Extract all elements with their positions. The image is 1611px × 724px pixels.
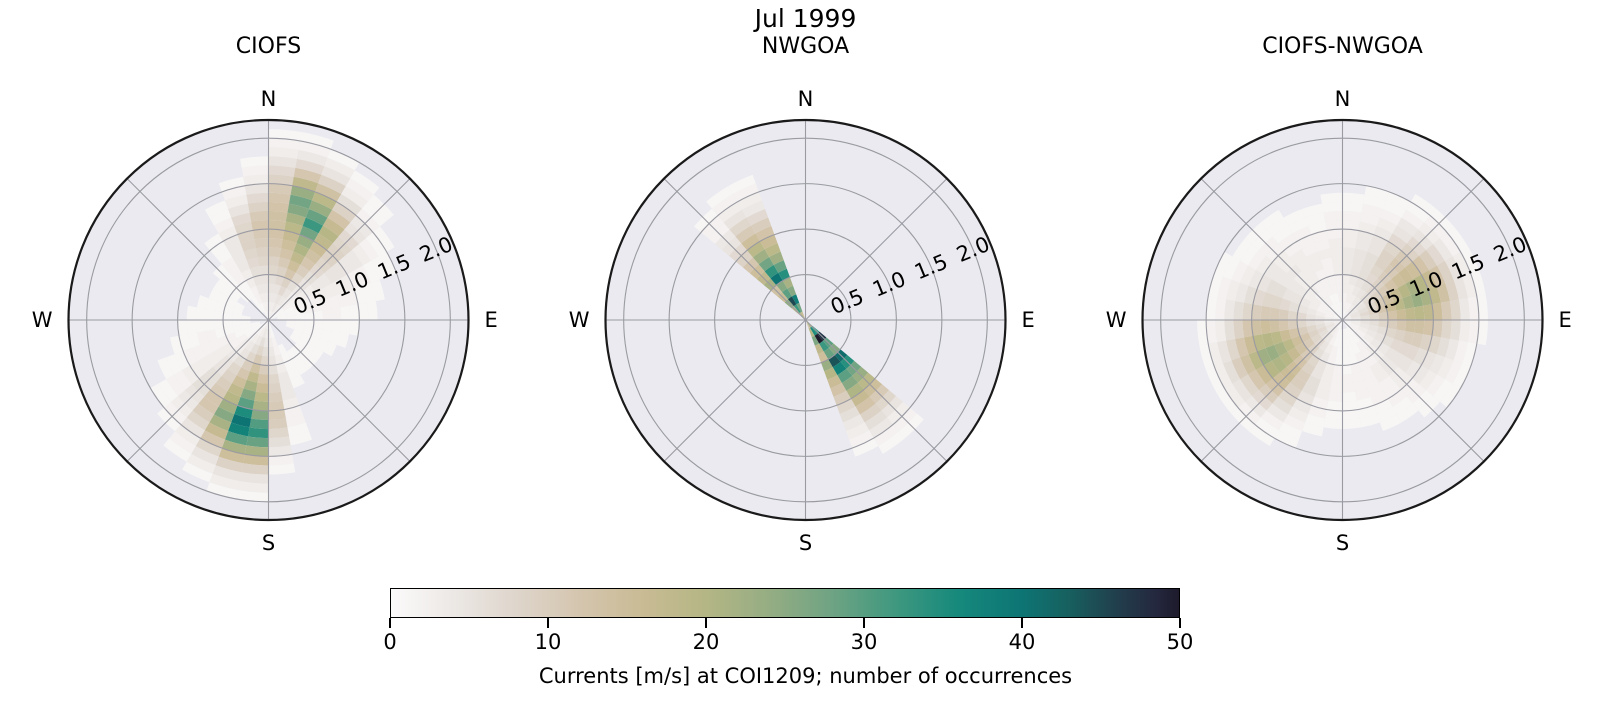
rose-cell	[1414, 320, 1424, 334]
colorbar-tick-mark	[1179, 618, 1180, 628]
rose-cell	[1343, 238, 1357, 248]
rose-cell	[250, 418, 269, 429]
rose-cell	[187, 306, 197, 320]
rose-cell	[269, 247, 282, 257]
colorbar-tick-mark	[863, 618, 864, 628]
rose-cell	[1324, 211, 1343, 222]
rose-cell	[1328, 392, 1342, 402]
polar-grid	[606, 120, 1006, 520]
panel-nwgoa: NWGOA 0.51.01.52.0NSEW	[537, 0, 1074, 600]
rose-cell	[1441, 320, 1452, 339]
rose-cell	[269, 374, 280, 384]
rose-cell	[1328, 238, 1342, 248]
rose-cell	[1270, 320, 1280, 333]
rose-cell	[256, 247, 269, 257]
compass-label-n: N	[1335, 87, 1351, 111]
rose-cell	[196, 320, 206, 333]
rose-cell	[1414, 306, 1424, 320]
rose-cell	[313, 320, 323, 329]
rose-cell	[1343, 418, 1362, 429]
rose-cell	[1261, 306, 1271, 320]
compass-label-w: W	[1106, 308, 1127, 332]
panel-ciofs: CIOFS 0.51.01.52.0NSEW	[0, 0, 537, 600]
rose-cell	[1333, 265, 1342, 275]
polar-grid	[69, 120, 469, 520]
compass-label-w: W	[32, 308, 53, 332]
rose-cell	[269, 383, 282, 393]
compass-label-w: W	[569, 308, 590, 332]
rose-cell	[322, 320, 332, 331]
rose-cell	[1405, 320, 1415, 333]
rose-cell	[322, 309, 332, 320]
rose-cell	[1233, 301, 1244, 320]
rose-cell	[269, 418, 288, 429]
rose-cell	[1441, 301, 1452, 320]
rose-cell	[1405, 307, 1415, 320]
colorbar-tick-mark	[389, 618, 390, 628]
rose-cell	[259, 265, 268, 275]
compass-label-e: E	[485, 308, 498, 332]
rose-cell	[254, 238, 268, 248]
rose-cell	[1387, 320, 1397, 329]
rose-cell	[340, 306, 350, 320]
rose-cell	[256, 383, 269, 393]
rose-cell	[205, 309, 215, 320]
compass-label-e: E	[1022, 308, 1035, 332]
rose-cell	[367, 301, 378, 320]
rose-cell	[1333, 365, 1342, 375]
rose-cell	[250, 211, 269, 222]
rose-cell	[1343, 247, 1356, 257]
rose-cell	[331, 307, 341, 320]
colorbar-tick-label: 10	[535, 630, 562, 654]
rose-cell	[1279, 320, 1289, 331]
rose-cell	[1343, 365, 1352, 375]
rose-cell	[1233, 320, 1244, 339]
rose-cell	[259, 365, 268, 375]
rose-cell	[1270, 307, 1280, 320]
rose-cell	[1343, 265, 1352, 275]
rose-cell	[331, 320, 341, 333]
polar-axes-ciofs-nwgoa: 0.51.01.52.0NSEW	[1074, 0, 1611, 600]
rose-cell	[1343, 374, 1354, 384]
rose-cell	[1279, 309, 1289, 320]
rose-cell	[205, 320, 215, 331]
colorbar	[390, 588, 1180, 618]
rose-cell	[1331, 374, 1342, 384]
rose-cell	[196, 307, 206, 320]
colorbar-tick-label: 50	[1167, 630, 1194, 654]
compass-label-e: E	[1559, 308, 1572, 332]
rose-cell	[1343, 211, 1362, 222]
rose-cell	[257, 256, 268, 266]
rose-cell	[1331, 256, 1342, 266]
rose-cell	[269, 265, 278, 275]
rose-cell	[269, 211, 288, 222]
rose-cell	[340, 320, 350, 334]
polar-axes-nwgoa: 0.51.01.52.0NSEW	[537, 0, 1074, 600]
polar-axes-ciofs: 0.51.01.52.0NSEW	[0, 0, 537, 600]
rose-cell	[269, 365, 278, 375]
figure-canvas: Jul 1999 CIOFS 0.51.01.52.0NSEW NWGOA 0.…	[0, 0, 1611, 724]
compass-label-s: S	[799, 531, 812, 555]
compass-label-s: S	[1336, 531, 1349, 555]
rose-cell	[1343, 383, 1356, 393]
colorbar-tick-label: 20	[693, 630, 720, 654]
rose-cell	[1330, 247, 1343, 257]
compass-label-s: S	[262, 531, 275, 555]
rose-cell	[269, 238, 283, 248]
rose-cell	[1288, 311, 1298, 320]
colorbar-tick-mark	[705, 618, 706, 628]
rose-cell	[269, 392, 283, 402]
polar-grid	[1143, 120, 1543, 520]
rose-cell	[257, 374, 268, 384]
rose-cell	[269, 256, 280, 266]
compass-label-n: N	[798, 87, 814, 111]
colorbar-tick-label: 0	[383, 630, 396, 654]
rose-cell	[1396, 309, 1406, 320]
rose-cell	[1330, 383, 1343, 393]
rose-cell	[1324, 418, 1343, 429]
rose-cell	[1261, 320, 1271, 334]
compass-label-n: N	[261, 87, 277, 111]
rose-cell	[1343, 256, 1354, 266]
rose-cell	[1396, 320, 1406, 331]
rose-cell	[1343, 392, 1357, 402]
colorbar-caption: Currents [m/s] at COI1209; number of occ…	[0, 664, 1611, 688]
colorbar-tick-label: 30	[851, 630, 878, 654]
panel-ciofs-nwgoa: CIOFS-NWGOA 0.51.01.52.0NSEW	[1074, 0, 1611, 600]
rose-cell	[254, 392, 268, 402]
colorbar-tick-mark	[547, 618, 548, 628]
rose-cell	[1288, 320, 1298, 329]
colorbar-gradient	[390, 588, 1180, 618]
rose-cell	[214, 320, 224, 329]
rose-cell	[214, 311, 224, 320]
colorbar-tick-mark	[1021, 618, 1022, 628]
colorbar-tick-label: 40	[1009, 630, 1036, 654]
rose-cell	[187, 320, 197, 334]
